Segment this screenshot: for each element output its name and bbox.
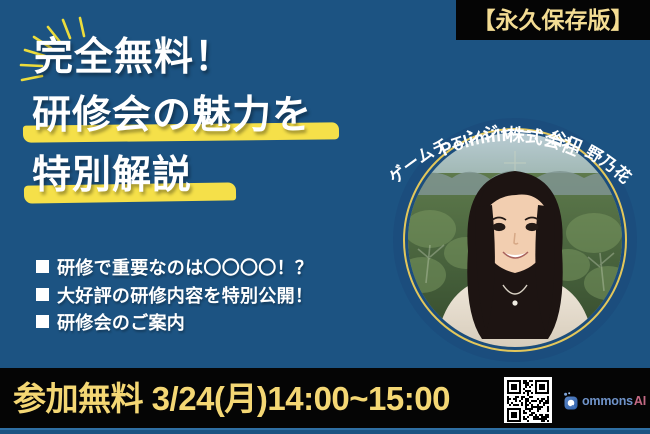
list-item-label: 研修で重要なのは〇〇〇〇！？	[57, 258, 313, 279]
list-item: 研修で重要なのは〇〇〇〇！？	[36, 258, 313, 279]
archive-badge: 【永久保存版】	[456, 0, 650, 40]
speaker-title-name: ゲームチェンジャー：谷口 野乃花	[385, 123, 635, 187]
list-item-label: 大好評の研修内容を特別公開！	[57, 286, 313, 307]
brand-name-part1: ommons	[582, 394, 633, 408]
brand-name-part2: AI	[634, 394, 646, 408]
q-logo-icon	[562, 392, 581, 411]
headline-line-2-wrap: 研修会の魅力を	[32, 96, 312, 135]
square-bullet-icon	[36, 260, 49, 273]
footer-bar: 参加無料 3/24(月)14:00~15:00	[0, 368, 650, 428]
headline-line-1: 完全無料！	[34, 38, 234, 77]
square-bullet-icon	[36, 315, 49, 328]
square-bullet-icon	[36, 288, 49, 301]
event-date-time: 参加無料 3/24(月)14:00~15:00	[13, 382, 450, 415]
list-item-label: 研修会のご案内	[57, 313, 185, 334]
webinar-poster: 【永久保存版】 完全無料！ 研修会の魅力を 特別解説 研修で重要なのは〇〇〇〇！…	[0, 0, 650, 434]
footer-bottom-hairline	[0, 428, 650, 430]
list-item: 大好評の研修内容を特別公開！	[36, 286, 313, 307]
headline-line-2: 研修会の魅力を	[32, 96, 312, 135]
headline-line-3-wrap: 特別解説	[32, 156, 192, 195]
brand-logo[interactable]: ommons AI	[562, 390, 646, 412]
headline-line-3: 特別解説	[32, 156, 192, 195]
speaker-arc-text: Polimill株式会社 ゲームチェンジャー：谷口 野乃花	[360, 44, 650, 234]
bullet-list: 研修で重要なのは〇〇〇〇！？ 大好評の研修内容を特別公開！ 研修会のご案内	[36, 258, 313, 341]
archive-badge-label: 【永久保存版】	[473, 9, 634, 32]
list-item: 研修会のご案内	[36, 313, 313, 334]
svg-text:ゲームチェンジャー：谷口 野乃花: ゲームチェンジャー：谷口 野乃花	[385, 123, 635, 187]
qr-code[interactable]	[504, 377, 552, 423]
